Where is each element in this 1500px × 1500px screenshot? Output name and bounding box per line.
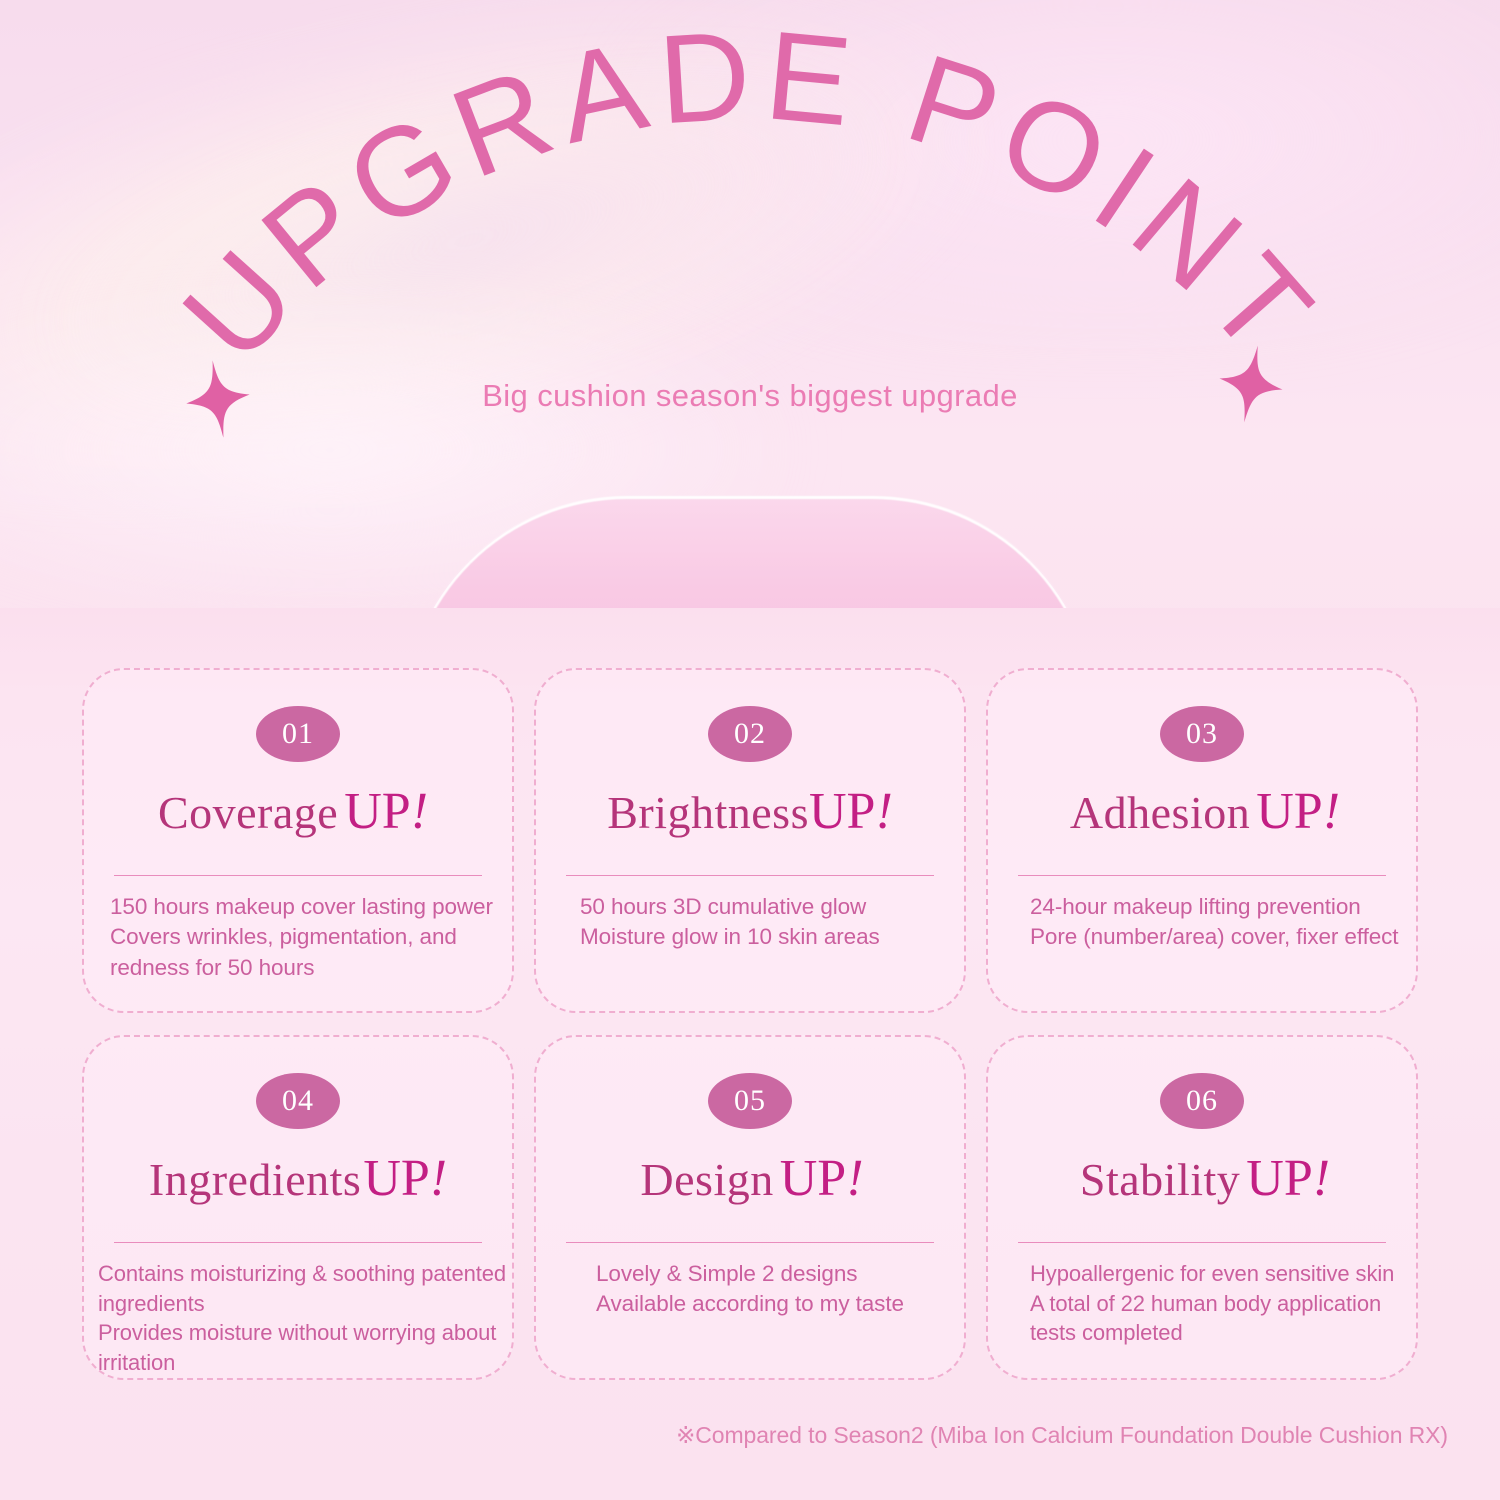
card-number-badge: 02 [708, 706, 792, 762]
upgrade-card-03: 03 AdhesionUP! 24-hour makeup lifting pr… [986, 668, 1418, 1013]
card-description: 150 hours makeup cover lasting power Cov… [110, 892, 494, 983]
card-description-line: Lovely & Simple 2 designs [596, 1259, 946, 1289]
upgrade-card-05: 05 DesignUP! Lovely & Simple 2 designs A… [534, 1035, 966, 1380]
card-divider [1018, 875, 1386, 876]
card-heading-up: UP! [344, 783, 428, 840]
card-number-badge: 04 [256, 1073, 340, 1129]
card-divider [114, 1242, 482, 1243]
card-description-line: Covers wrinkles, pigmentation, and [110, 922, 494, 952]
card-heading-up: UP! [780, 1150, 864, 1207]
card-description: 50 hours 3D cumulative glow Moisture glo… [580, 892, 946, 953]
card-description-line: 24-hour makeup lifting prevention [1030, 892, 1398, 922]
card-number-badge: 01 [256, 706, 340, 762]
upgrade-card-02: 02 BrightnessUP! 50 hours 3D cumulative … [534, 668, 966, 1013]
card-description-line: tests completed [1030, 1318, 1398, 1348]
sparkle-star-icon [181, 356, 255, 442]
card-description-line: 150 hours makeup cover lasting power [110, 892, 494, 922]
card-heading: CoverageUP! [84, 782, 512, 841]
card-description-line: 50 hours 3D cumulative glow [580, 892, 946, 922]
upgrade-card-01: 01 CoverageUP! 150 hours makeup cover la… [82, 668, 514, 1013]
card-number-badge: 06 [1160, 1073, 1244, 1129]
card-description: Hypoallergenic for even sensitive skin A… [1030, 1259, 1398, 1348]
card-heading: IngredientsUP! [84, 1149, 512, 1208]
card-description-line: Contains moisturizing & soothing patente… [98, 1259, 494, 1289]
card-description-line: Hypoallergenic for even sensitive skin [1030, 1259, 1398, 1289]
card-heading: DesignUP! [536, 1149, 964, 1208]
footnote-text: ※Compared to Season2 (Miba Ion Calcium F… [0, 1422, 1448, 1449]
card-description-line: redness for 50 hours [110, 953, 494, 983]
upgrade-point-card-grid: 01 CoverageUP! 150 hours makeup cover la… [82, 668, 1418, 1380]
card-number-badge: 03 [1160, 706, 1244, 762]
card-heading-label: Brightness [607, 787, 809, 838]
upgrade-point-infographic: UPGRADE POINT Big cushion season's bigge… [0, 0, 1500, 1500]
card-heading-label: Stability [1080, 1154, 1240, 1205]
card-heading-label: Adhesion [1070, 787, 1250, 838]
card-divider [566, 1242, 934, 1243]
card-heading-up: UP! [809, 783, 893, 840]
upgrade-card-04: 04 IngredientsUP! Contains moisturizing … [82, 1035, 514, 1380]
card-number-badge: 05 [708, 1073, 792, 1129]
card-divider [1018, 1242, 1386, 1243]
card-heading: StabilityUP! [988, 1149, 1416, 1208]
card-divider [566, 875, 934, 876]
card-description-line: A total of 22 human body application [1030, 1289, 1398, 1319]
card-heading-label: Design [640, 1154, 773, 1205]
card-description-line: Pore (number/area) cover, fixer effect [1030, 922, 1398, 952]
card-heading: BrightnessUP! [536, 782, 964, 841]
card-description-line: ingredients [98, 1289, 494, 1319]
card-description: Contains moisturizing & soothing patente… [98, 1259, 494, 1378]
sparkle-star-icon [1213, 340, 1290, 428]
card-description: 24-hour makeup lifting prevention Pore (… [1030, 892, 1398, 953]
card-heading-label: Coverage [158, 787, 338, 838]
card-heading-label: Ingredients [149, 1154, 361, 1205]
card-heading-up: UP! [1246, 1150, 1330, 1207]
card-description: Lovely & Simple 2 designs Available acco… [596, 1259, 946, 1320]
card-description-line: irritation [98, 1348, 494, 1378]
card-description-line: Moisture glow in 10 skin areas [580, 922, 946, 952]
card-description-line: Available according to my taste [596, 1289, 946, 1319]
upgrade-card-06: 06 StabilityUP! Hypoallergenic for even … [986, 1035, 1418, 1380]
card-heading-up: UP! [1256, 783, 1340, 840]
card-heading: AdhesionUP! [988, 782, 1416, 841]
card-divider [114, 875, 482, 876]
card-heading-up: UP! [363, 1150, 447, 1207]
card-description-line: Provides moisture without worrying about [98, 1318, 494, 1348]
